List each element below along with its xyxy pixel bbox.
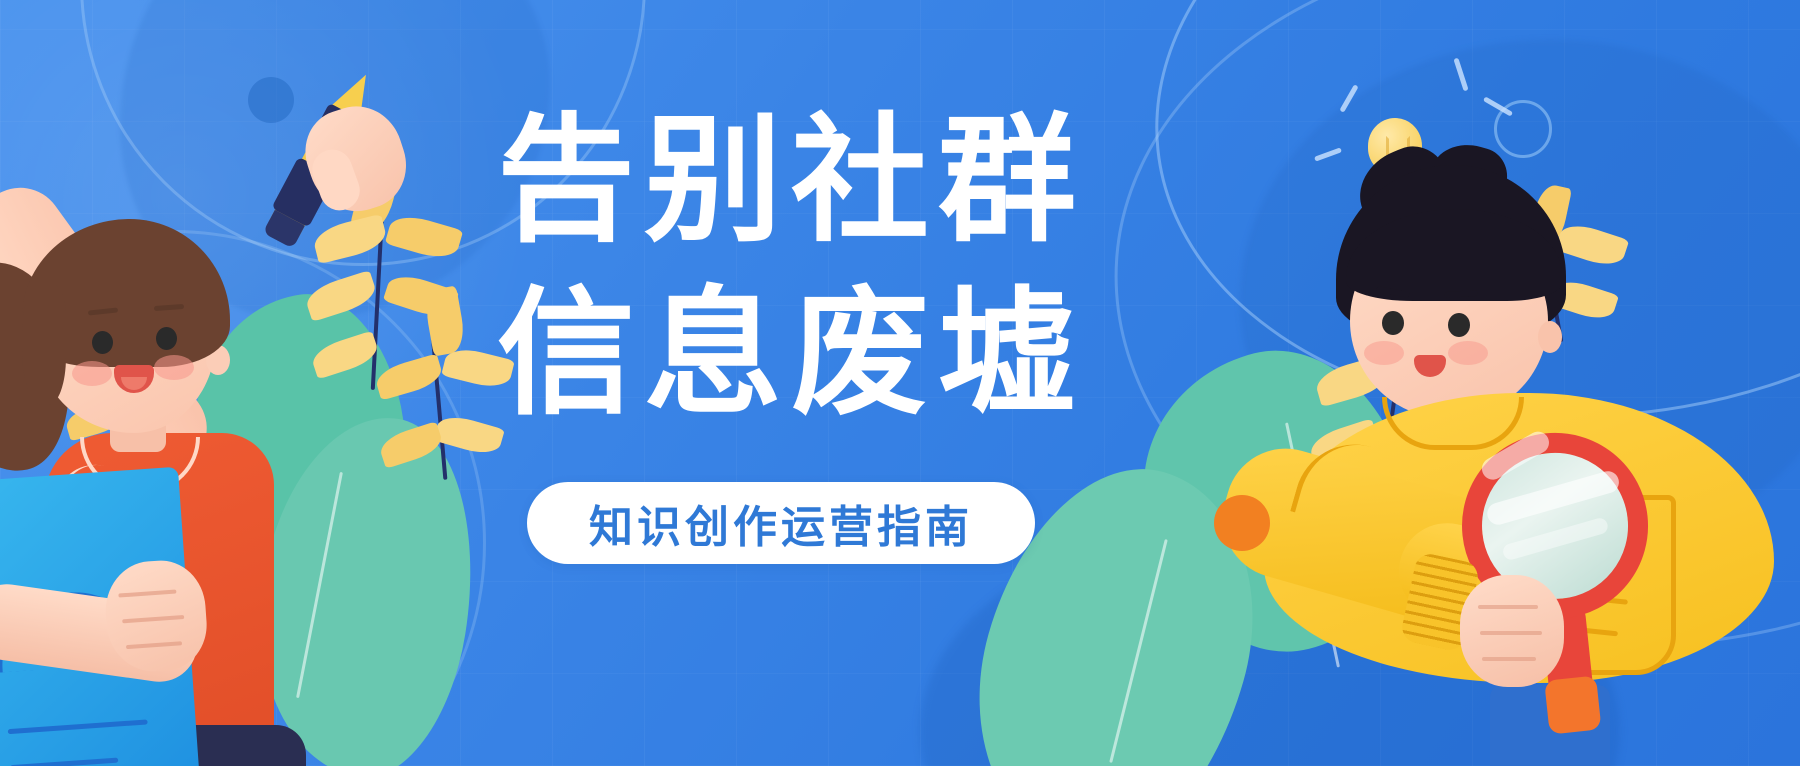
finger-crease bbox=[122, 615, 184, 623]
girl-cheek-right bbox=[154, 355, 194, 380]
boy-ear bbox=[1538, 321, 1562, 353]
finger-crease bbox=[1480, 631, 1542, 635]
girl-illustration bbox=[0, 205, 480, 766]
girl-cheek-left bbox=[72, 361, 112, 386]
boy-eye-left bbox=[1382, 311, 1404, 335]
circle-outline-icon bbox=[1494, 100, 1552, 158]
finger-crease bbox=[1478, 605, 1538, 609]
boy-cheek-left bbox=[1364, 341, 1404, 365]
promo-banner: 告别社群 信息废墟 知识创作运营指南 bbox=[0, 0, 1800, 766]
girl-eye-left bbox=[92, 331, 113, 354]
subtitle-text: 知识创作运营指南 bbox=[589, 491, 973, 555]
boy-eye-right bbox=[1448, 313, 1470, 337]
spark-dash-2 bbox=[1483, 96, 1513, 116]
boy-cuff-left bbox=[1214, 495, 1270, 551]
subtitle-pill: 知识创作运营指南 bbox=[527, 482, 1035, 564]
boy-cheek-right bbox=[1448, 341, 1488, 365]
solid-circle-decoration bbox=[248, 77, 294, 123]
headline-line-1: 告别社群 bbox=[497, 95, 1097, 268]
magnifier-grip bbox=[1544, 675, 1601, 734]
spark-dash-1 bbox=[1453, 58, 1468, 92]
finger-crease bbox=[1482, 657, 1536, 661]
girl-hair-side bbox=[22, 285, 66, 405]
leaf-vein-3 bbox=[1109, 539, 1168, 763]
girl-eye-right bbox=[156, 327, 177, 350]
boy-hand bbox=[1460, 575, 1564, 687]
spark-dash-4 bbox=[1314, 147, 1342, 161]
finger-crease bbox=[126, 641, 182, 649]
headline-line-2: 信息废墟 bbox=[497, 268, 1097, 441]
boy-illustration bbox=[1160, 165, 1780, 766]
headline-block: 告别社群 信息废墟 bbox=[497, 95, 1097, 440]
spark-dash-3 bbox=[1339, 84, 1358, 112]
finger-crease bbox=[118, 590, 176, 598]
